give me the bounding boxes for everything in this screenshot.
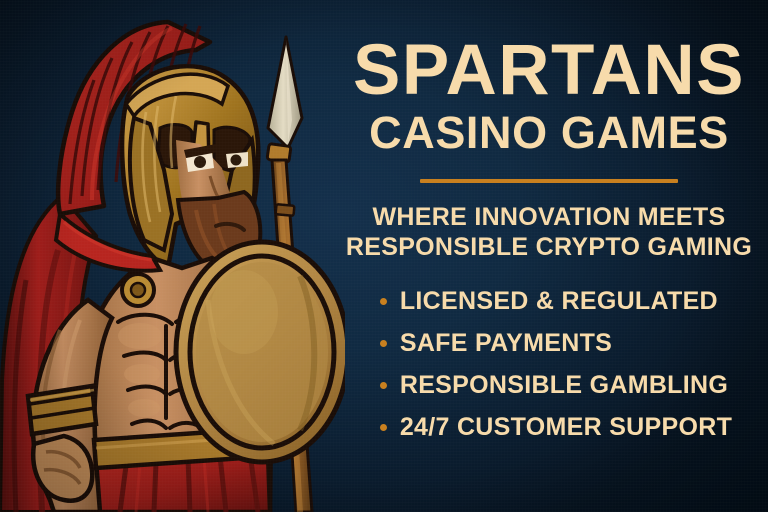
bullet-dot-icon bbox=[380, 298, 387, 305]
bullet-dot-icon bbox=[380, 382, 387, 389]
promo-banner: SPARTANS CASINO GAMES WHERE INNOVATION M… bbox=[0, 0, 768, 512]
feature-label: 24/7 CUSTOMER SUPPORT bbox=[400, 415, 732, 440]
bullet-dot-icon bbox=[380, 424, 387, 431]
tagline-line-2: RESPONSIBLE CRYPTO GAMING bbox=[346, 233, 752, 263]
list-item: RESPONSIBLE GAMBLING bbox=[380, 373, 732, 398]
page-subtitle: CASINO GAMES bbox=[369, 110, 729, 157]
tagline-line-1: WHERE INNOVATION MEETS bbox=[346, 203, 752, 233]
list-item: LICENSED & REGULATED bbox=[380, 289, 732, 314]
feature-label: LICENSED & REGULATED bbox=[400, 289, 718, 314]
list-item: SAFE PAYMENTS bbox=[380, 331, 732, 356]
feature-label: SAFE PAYMENTS bbox=[400, 331, 612, 356]
feature-list: LICENSED & REGULATED SAFE PAYMENTS RESPO… bbox=[380, 289, 732, 457]
feature-label: RESPONSIBLE GAMBLING bbox=[400, 373, 728, 398]
bullet-dot-icon bbox=[380, 340, 387, 347]
tagline: WHERE INNOVATION MEETS RESPONSIBLE CRYPT… bbox=[346, 203, 752, 263]
page-title: SPARTANS bbox=[353, 38, 745, 104]
list-item: 24/7 CUSTOMER SUPPORT bbox=[380, 415, 732, 440]
divider-rule bbox=[420, 179, 678, 183]
text-panel: SPARTANS CASINO GAMES WHERE INNOVATION M… bbox=[330, 0, 768, 512]
